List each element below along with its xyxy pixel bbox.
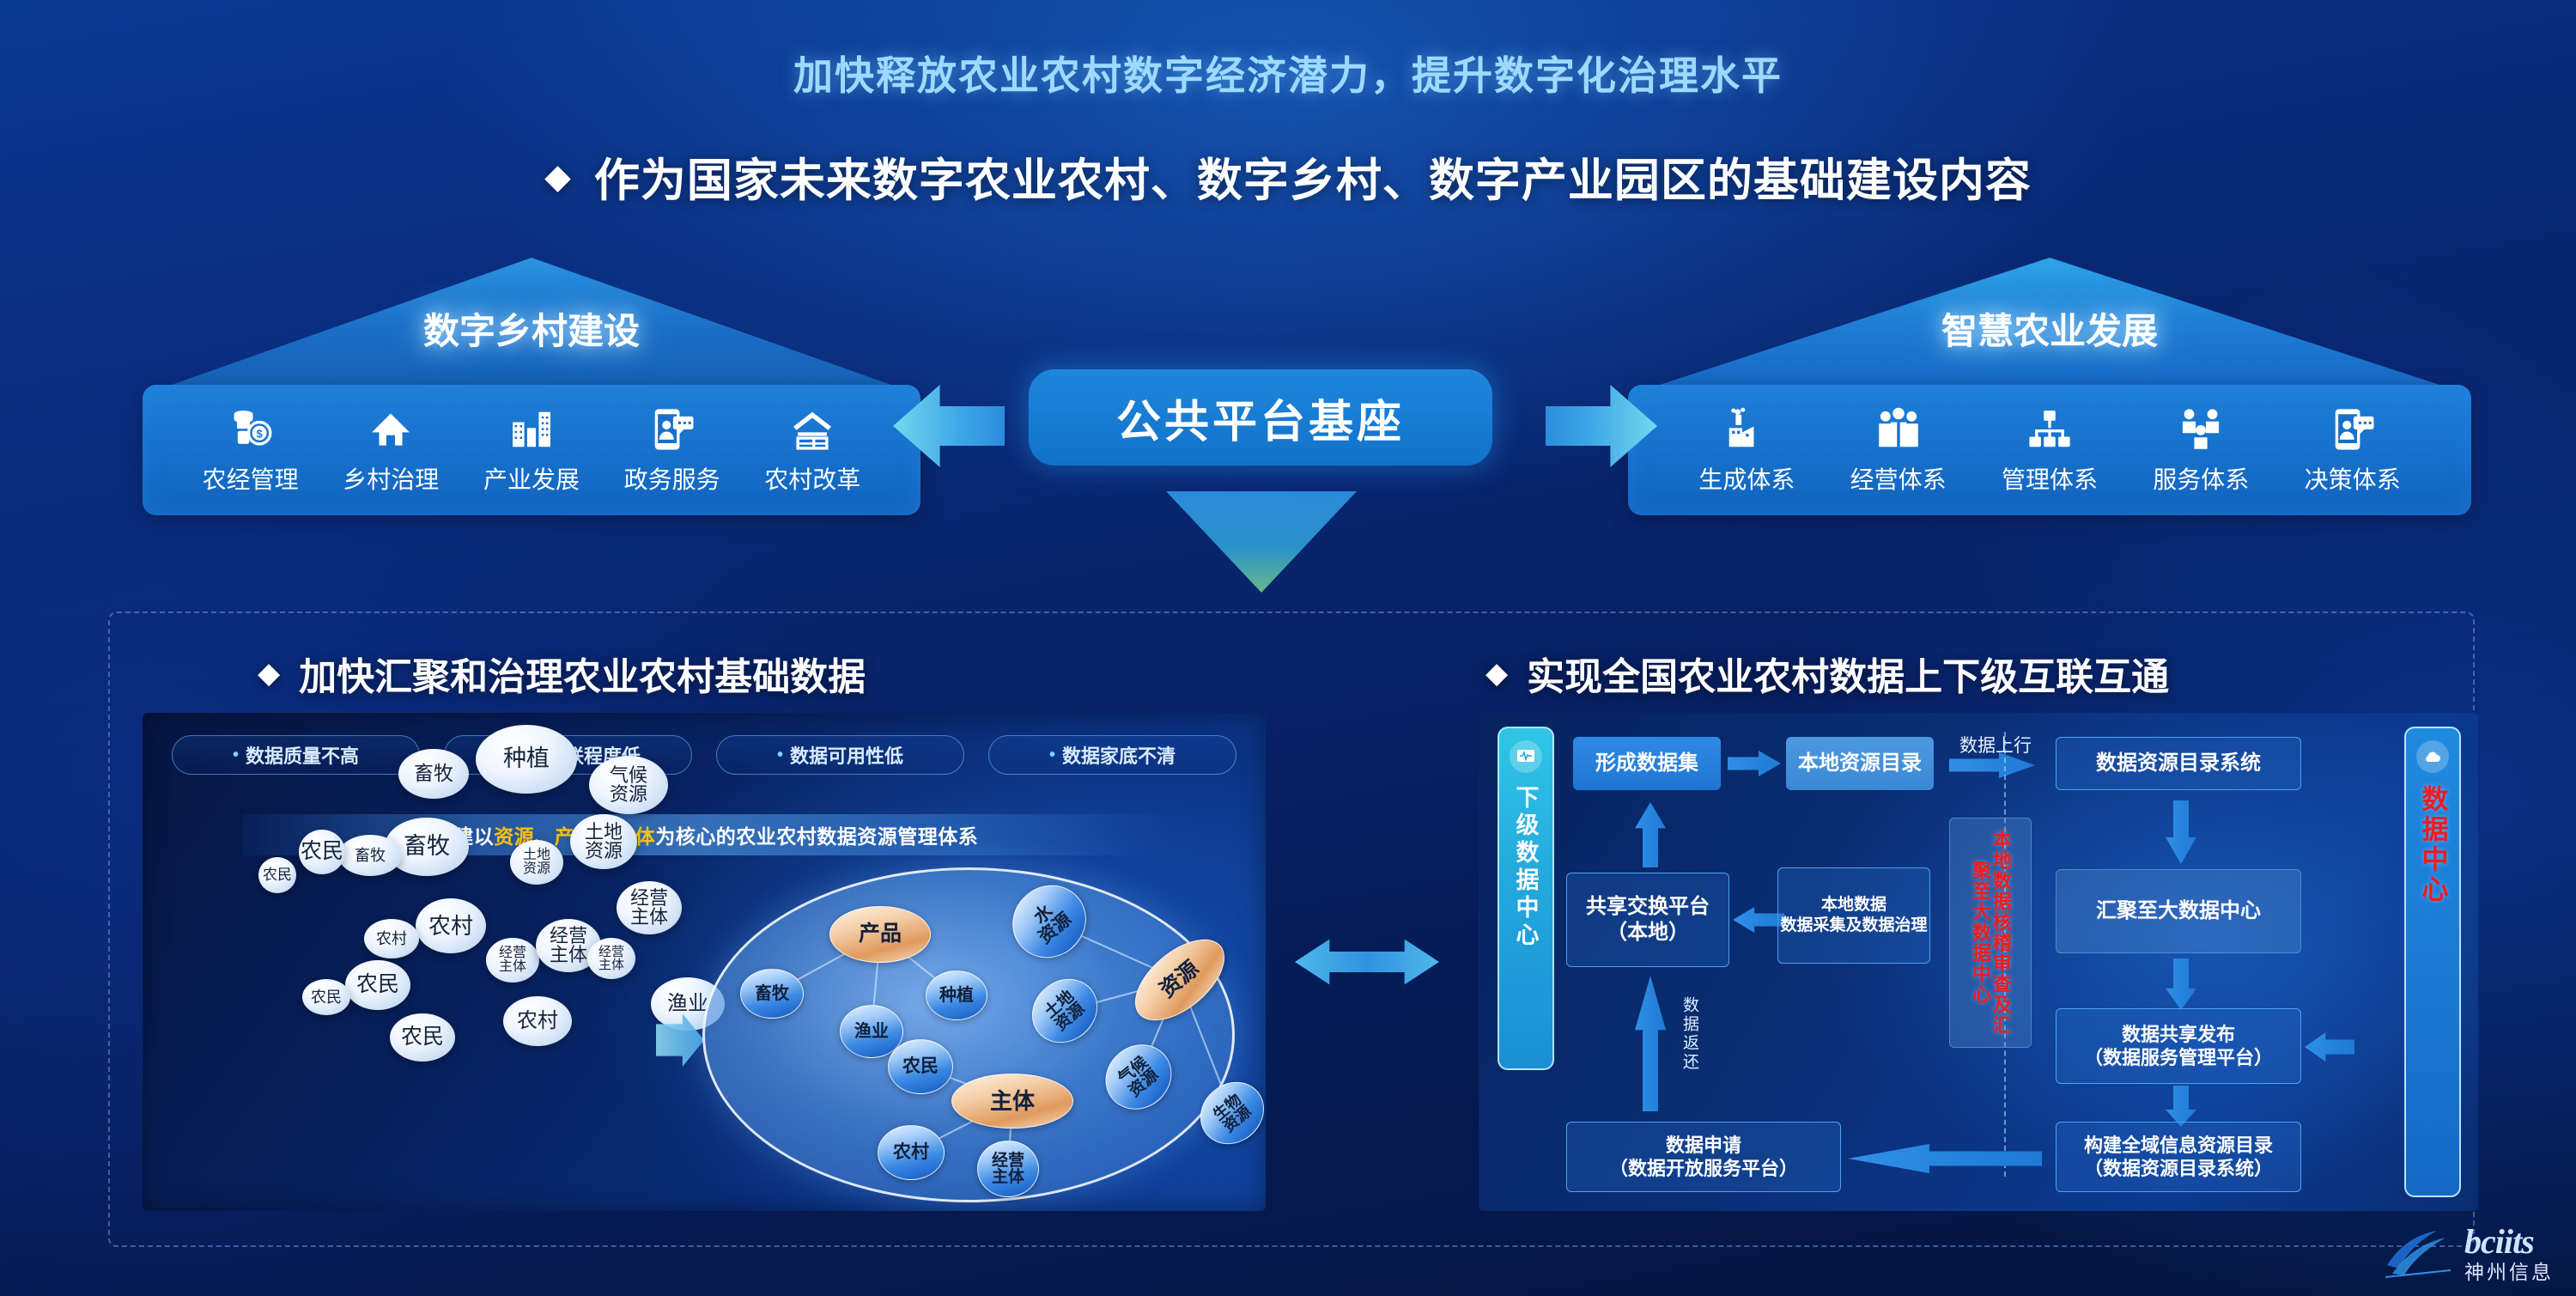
lower-data-center-label: 下级数据中心 (1510, 785, 1543, 950)
feature-label: 政务服务 (624, 461, 720, 496)
lower-data-center-column[interactable]: 下级数据中心 (1498, 727, 1554, 1070)
box-share-platform[interactable]: 共享交换平台 （本地） (1566, 873, 1729, 967)
factory-icon (1722, 405, 1771, 454)
pillar-title: 数字乡村建设 (143, 302, 920, 355)
org-chart-icon (2025, 405, 2075, 454)
service-people-icon (2176, 405, 2226, 454)
logo-cn-text: 神州信息 (2464, 1263, 2554, 1282)
chaos-bubble-17: 经营 主体 (587, 938, 635, 979)
public-platform-badge[interactable]: 公共平台基座 (1029, 369, 1492, 465)
data-center-column[interactable]: 数据中心 (2404, 727, 2461, 1197)
diamond-bullet-icon: ◆ (1485, 659, 1508, 688)
box-share-publish[interactable]: 数据共享发布 （数据服务管理平台） (2056, 1008, 2301, 1084)
organised-node-7: 农民 (888, 1039, 953, 1094)
feature-item-1[interactable]: 经营体系 (1850, 405, 1947, 496)
box-aggregate-center[interactable]: 汇聚至大数据中心 (2056, 869, 2301, 953)
feature-label: 农村改革 (764, 461, 860, 496)
right-panel-heading: ◆ 实现全国农业农村数据上下级互联互通 (1485, 646, 2169, 701)
organised-node-4: 种植 (926, 970, 987, 1020)
problem-pill-2[interactable]: 数据可用性低 (716, 735, 964, 775)
pillar-digital-village: 数字乡村建设 $ 农经管理 乡村治理 产业发展 (143, 258, 920, 515)
box-data-apply[interactable]: 数据申请 （数据开放服务平台） (1566, 1122, 1841, 1192)
company-logo: bciits 神州信息 (2384, 1225, 2554, 1282)
coin-stack-icon: $ (226, 405, 276, 454)
chaos-bubble-8: 土地 资源 (570, 814, 637, 869)
arrow-center-to-publish-icon (2305, 1032, 2354, 1062)
label-data-upload: 数据上行 (1959, 732, 2032, 758)
arrow-publish-to-global-icon (2166, 1086, 2196, 1127)
feature-item-3[interactable]: 服务体系 (2153, 405, 2249, 496)
pillar-feature-bar: 生成体系 经营体系 管理体系 服务体系 (1628, 385, 2471, 515)
chaos-bubble-18: 农村 (503, 996, 572, 1046)
data-governance-panel: 数据质量不高业务关联程度低数据可用性低数据家底不清 构建以资源、产品、主体为核心… (143, 713, 1266, 1211)
feature-item-1[interactable]: 乡村治理 (343, 405, 439, 496)
public-platform-label: 公共平台基座 (1116, 386, 1405, 450)
box-catalog-system[interactable]: 数据资源目录系统 (2056, 737, 2301, 790)
box-local-catalog[interactable]: 本地资源目录 (1786, 737, 1934, 790)
chaos-bubble-9: 经营 主体 (617, 881, 682, 934)
svg-text:$: $ (256, 428, 262, 440)
organised-node-3: 畜牧 (740, 969, 804, 1019)
arrow-aggregate-to-publish-icon (2166, 958, 2196, 1010)
box-build-global[interactable]: 构建全域信息资源目录 （数据资源目录系统） (2056, 1122, 2301, 1192)
box-local-collect[interactable]: 本地数据 数据采集及数据治理 (1777, 867, 1930, 964)
feature-label: 经营体系 (1850, 461, 1947, 496)
feature-label: 农经管理 (203, 461, 299, 496)
box-audit-note: 本地数据核稽审查及汇聚至大数据中心 (1949, 818, 2032, 1048)
arrow-catalog-to-aggregate-icon (2166, 800, 2196, 864)
core-banner-suffix: 为核心的农业农村数据资源管理体系 (655, 820, 978, 849)
diamond-bullet-icon: ◆ (544, 160, 572, 194)
monitor-pulse-icon (1510, 740, 1542, 773)
chaos-bubble-14: 农民 (390, 1013, 455, 1062)
mobile-service-icon (647, 405, 697, 454)
chaos-bubble-10: 农村 (416, 898, 486, 953)
feature-label: 决策体系 (2305, 461, 2401, 496)
mobile-decision-icon (2328, 405, 2378, 454)
barn-icon (787, 405, 837, 454)
feature-item-2[interactable]: 管理体系 (2002, 405, 2098, 496)
feature-label: 乡村治理 (343, 461, 439, 496)
organised-data-ellipse (702, 867, 1235, 1202)
feature-item-4[interactable]: 决策体系 (2305, 405, 2401, 496)
left-panel-heading: ◆ 加快汇聚和治理农业农村基础数据 (258, 646, 866, 701)
chaos-bubble-5: 农民 (299, 830, 345, 874)
page-subtitle-text: 作为国家未来数字农业农村、数字乡村、数字产业园区的基础建设内容 (594, 144, 2032, 210)
arrow-data-return-icon (1635, 976, 1666, 1111)
feature-label: 生成体系 (1698, 461, 1795, 496)
arrow-down-icon (1166, 491, 1357, 593)
chaos-bubble-12: 农民 (345, 960, 410, 1010)
feature-item-4[interactable]: 农村改革 (764, 405, 860, 496)
data-center-label: 数据中心 (2414, 785, 2452, 905)
organised-node-10: 主体 (951, 1074, 1073, 1129)
page-title: 加快释放农业农村数字经济潜力，提升数字化治理水平 (0, 45, 2576, 101)
organised-node-12: 经营 主体 (977, 1141, 1039, 1197)
page-subtitle: ◆ 作为国家未来数字农业农村、数字乡村、数字产业园区的基础建设内容 (0, 144, 2576, 210)
label-data-return: 数据返还 (1678, 996, 1701, 1072)
feature-item-0[interactable]: 生成体系 (1698, 405, 1795, 496)
problem-pill-3[interactable]: 数据家底不清 (988, 735, 1236, 775)
arrow-collect-to-share-icon (1733, 907, 1784, 933)
logo-mark-icon (2384, 1226, 2454, 1282)
chaos-bubble-4: 畜牧 (338, 835, 402, 876)
problem-pill-0[interactable]: 数据质量不高 (172, 735, 420, 775)
chaos-bubble-6: 农民 (258, 857, 296, 893)
pillar-feature-bar: $ 农经管理 乡村治理 产业发展 政务服务 (143, 385, 920, 515)
slide-canvas: 加快释放农业农村数字经济潜力，提升数字化治理水平 ◆ 作为国家未来数字农业农村、… (0, 0, 2576, 1296)
feature-item-3[interactable]: 政务服务 (624, 405, 720, 496)
problem-pill-row: 数据质量不高业务关联程度低数据可用性低数据家底不清 (172, 735, 1236, 775)
house-icon (366, 405, 416, 454)
cloud-icon (2416, 740, 2449, 773)
chaos-bubble-11: 农村 (364, 919, 419, 958)
data-interconnect-panel: 下级数据中心 数据中心 形成数据集 本地资源目录 数据上行 数据资源目录系统 共… (1479, 713, 2478, 1211)
pillar-title: 智慧农业发展 (1628, 302, 2471, 355)
right-panel-heading-text: 实现全国农业农村数据上下级互联互通 (1527, 646, 2169, 701)
feature-item-2[interactable]: 产业发展 (483, 405, 580, 496)
arrow-share-to-dataset-icon (1635, 802, 1666, 867)
organised-node-11: 农村 (878, 1125, 945, 1180)
chaos-bubble-0: 畜牧 (398, 749, 469, 799)
chaos-bubble-1: 种植 (476, 725, 577, 794)
box-form-dataset[interactable]: 形成数据集 (1573, 737, 1721, 790)
feature-item-0[interactable]: $ 农经管理 (203, 405, 299, 496)
chaos-bubble-13: 农民 (302, 979, 350, 1015)
buildings-icon (507, 405, 556, 454)
feature-label: 管理体系 (2002, 461, 2098, 496)
diamond-bullet-icon: ◆ (258, 659, 280, 688)
arrow-global-to-apply-icon (1848, 1144, 2042, 1173)
logo-en-text: bciits (2464, 1225, 2554, 1259)
feature-label: 产业发展 (483, 461, 580, 496)
people-group-icon (1874, 405, 1923, 454)
feature-label: 服务体系 (2153, 461, 2249, 496)
audit-note-text: 本地数据核稽审查及汇聚至大数据中心 (1970, 827, 2011, 1038)
left-panel-heading-text: 加快汇聚和治理农业农村基础数据 (299, 646, 866, 701)
arrow-dataset-to-catalog-icon (1728, 751, 1781, 776)
organised-node-0: 产品 (829, 906, 931, 963)
pillar-smart-agriculture: 智慧农业发展 生成体系 经营体系 管理体系 (1628, 258, 2471, 515)
chaos-bubble-7: 土地 资源 (510, 840, 563, 885)
chaos-bubble-2: 气候 资源 (589, 756, 668, 814)
chaos-bubble-15: 经营 主体 (486, 938, 539, 983)
